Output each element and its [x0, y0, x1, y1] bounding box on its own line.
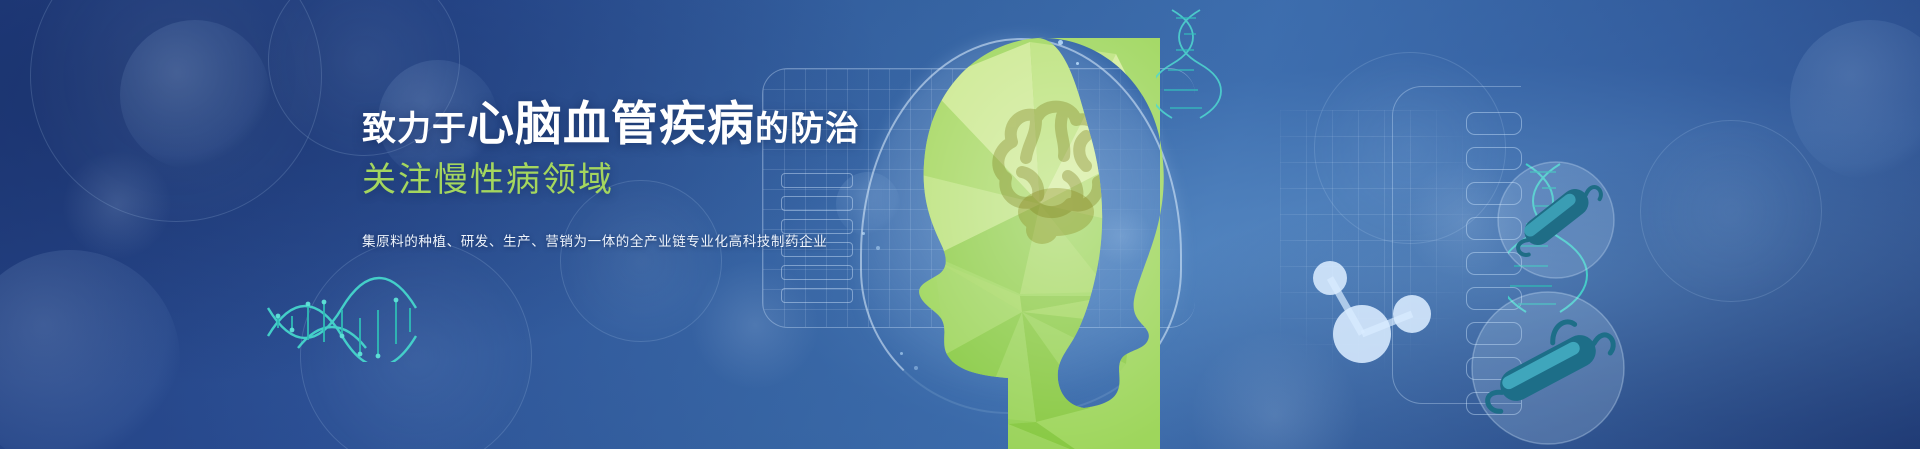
molecule-node	[1333, 305, 1391, 363]
tagline: 集原料的种植、研发、生产、营销为一体的全产业链专业化高科技制药企业	[362, 230, 1062, 250]
pill	[1466, 112, 1522, 135]
microbe-rod-upper-icon	[1496, 160, 1616, 280]
hero-banner: 致力于心脑血管疾病的防治 关注慢性病领域 集原料的种植、研发、生产、营销为一体的…	[0, 0, 1920, 449]
headline-lead: 致力于	[362, 110, 467, 148]
molecule-node	[1313, 261, 1347, 295]
headline: 致力于心脑血管疾病的防治	[362, 96, 1062, 151]
dna-helix-left-icon	[262, 252, 452, 362]
microbe-rod-lower-icon	[1468, 288, 1628, 448]
subheadline: 关注慢性病领域	[362, 159, 1062, 202]
molecule-icon	[1300, 252, 1450, 382]
headline-tail: 的防治	[755, 110, 860, 148]
headline-emphasis: 心脑血管疾病	[467, 97, 755, 150]
hero-copy: 致力于心脑血管疾病的防治 关注慢性病领域 集原料的种植、研发、生产、营销为一体的…	[362, 96, 1062, 250]
molecule-node	[1393, 295, 1431, 333]
dna-helix-top-icon	[1156, 8, 1236, 128]
